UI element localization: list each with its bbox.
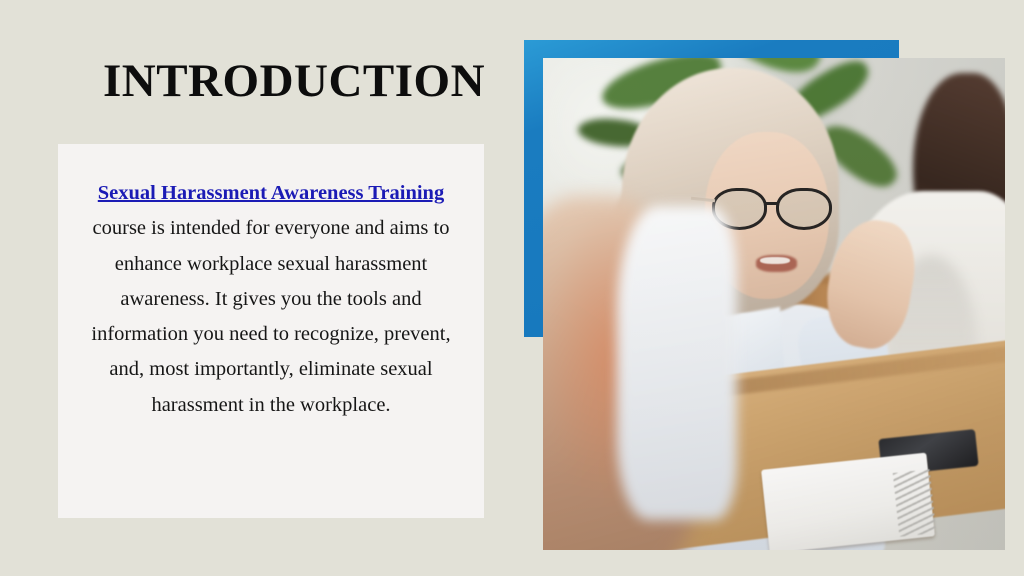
body-text: course is intended for everyone and aims… [91, 217, 450, 415]
body-paragraph: Sexual Harassment Awareness Training cou… [83, 176, 459, 423]
page-title: INTRODUCTION [103, 57, 523, 106]
photo-speaker-teeth [760, 257, 790, 264]
glasses-bridge [764, 202, 778, 205]
photo-speaker-glasses [712, 188, 832, 230]
photo-notebook-spiral [893, 470, 936, 537]
course-link[interactable]: Sexual Harassment Awareness Training [98, 182, 444, 204]
text-panel: Sexual Harassment Awareness Training cou… [58, 144, 484, 518]
glasses-lens-right [776, 188, 831, 230]
slide: INTRODUCTION [0, 0, 1024, 576]
photo-foreground-person-shirt [617, 206, 737, 521]
meeting-photo [543, 58, 1005, 550]
